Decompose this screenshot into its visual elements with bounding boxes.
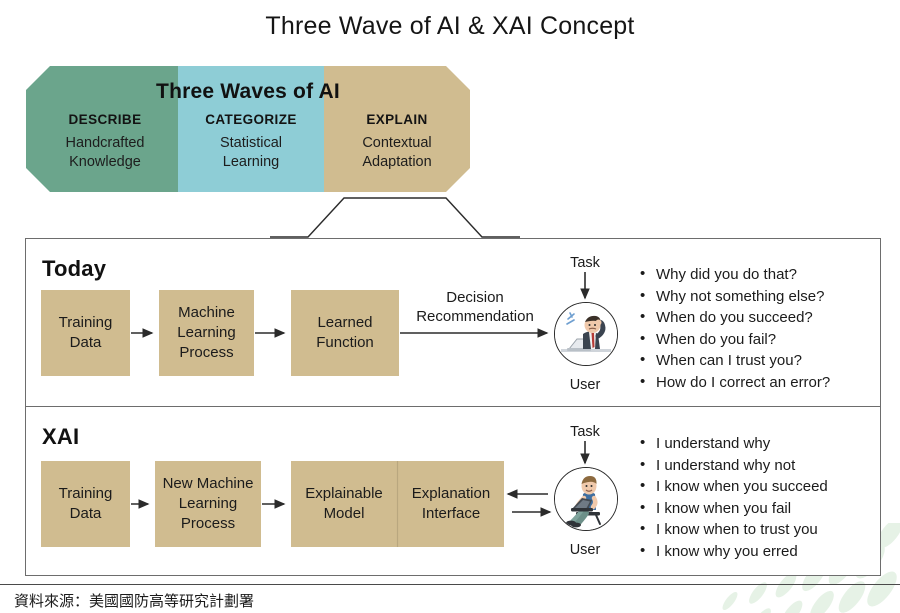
today-decision-label-line1: Decision	[405, 288, 545, 307]
wave-subtext-explain-line2: Adaptation	[324, 153, 470, 172]
today-box-ml-process: Machine Learning Process	[159, 290, 254, 376]
today-question-list: Why did you do that? Why not something e…	[640, 264, 830, 393]
list-item: Why not something else?	[640, 286, 830, 308]
list-item: When do you succeed?	[640, 307, 830, 329]
trapezoid-connector	[270, 196, 520, 238]
footer-divider	[0, 584, 900, 585]
panel-divider	[25, 406, 881, 407]
list-item: When do you fail?	[640, 329, 830, 351]
wave-column-explain: EXPLAIN Contextual Adaptation	[324, 112, 470, 172]
xai-box-training-data-line2: Data	[59, 504, 113, 524]
xai-box-explanation-interface: Explanation Interface	[398, 461, 504, 547]
three-waves-block: Three Waves of AI DESCRIBE Handcrafted K…	[26, 66, 470, 192]
xai-box-training-data-line1: Training	[59, 484, 113, 504]
today-box-training-data-line2: Data	[59, 333, 113, 353]
today-box-learned-function: Learned Function	[291, 290, 399, 376]
wave-caption-explain: EXPLAIN	[324, 112, 470, 127]
diagram-canvas: Three Wave of AI & XAI Concept Three Wav…	[0, 0, 900, 613]
wave-column-categorize: CATEGORIZE Statistical Learning	[178, 112, 324, 172]
row-label-today: Today	[42, 256, 106, 282]
today-task-label: Task	[540, 255, 630, 271]
wave-subtext-describe-line1: Handcrafted	[32, 134, 178, 153]
row-label-xai: XAI	[42, 424, 79, 450]
wave-caption-categorize: CATEGORIZE	[178, 112, 324, 127]
wave-subtext-explain-line1: Contextual	[324, 134, 470, 153]
xai-box-explainable-model: Explainable Model	[291, 461, 397, 547]
today-box-training-data: Training Data	[41, 290, 130, 376]
xai-box-new-ml-process-line1: New Machine	[163, 474, 254, 494]
today-box-learned-function-line1: Learned	[316, 313, 374, 333]
list-item: I understand why	[640, 433, 828, 455]
footer-source-text: 資料來源：美國國防高等研究計劃署	[14, 590, 254, 611]
list-item: I know why you erred	[640, 541, 828, 563]
list-item: I know when you succeed	[640, 476, 828, 498]
xai-user-label: User	[540, 542, 630, 558]
xai-task-label: Task	[540, 424, 630, 440]
wave-subtext-describe-line2: Knowledge	[32, 153, 178, 172]
xai-user-avatar	[554, 467, 618, 531]
list-item: When can I trust you?	[640, 350, 830, 372]
wave-column-describe: DESCRIBE Handcrafted Knowledge	[32, 112, 178, 172]
today-user-avatar	[554, 302, 618, 366]
page-title: Three Wave of AI & XAI Concept	[0, 12, 900, 41]
today-decision-recommendation-label: Decision Recommendation	[405, 288, 545, 326]
waves-heading: Three Waves of AI	[26, 80, 470, 104]
xai-box-explainable-model-line1: Explainable	[305, 484, 383, 504]
list-item: Why did you do that?	[640, 264, 830, 286]
list-item: I know when to trust you	[640, 519, 828, 541]
today-box-ml-process-line1: Machine	[177, 303, 235, 323]
today-decision-label-line2: Recommendation	[405, 307, 545, 326]
today-box-training-data-line1: Training	[59, 313, 113, 333]
list-item: I know when you fail	[640, 498, 828, 520]
xai-box-explanation-interface-line1: Explanation	[412, 484, 490, 504]
today-box-learned-function-line2: Function	[316, 333, 374, 353]
today-box-ml-process-line3: Process	[177, 343, 235, 363]
wave-subtext-categorize-line2: Learning	[178, 153, 324, 172]
xai-box-training-data: Training Data	[41, 461, 130, 547]
wave-subtext-categorize-line1: Statistical	[178, 134, 324, 153]
xai-box-explainable-model-line2: Model	[305, 504, 383, 524]
xai-box-new-ml-process-line3: Process	[163, 514, 254, 534]
xai-box-new-ml-process: New Machine Learning Process	[155, 461, 261, 547]
list-item: How do I correct an error?	[640, 372, 830, 394]
xai-statement-list: I understand why I understand why not I …	[640, 433, 828, 562]
xai-box-explanation-interface-line2: Interface	[412, 504, 490, 524]
wave-caption-describe: DESCRIBE	[32, 112, 178, 127]
xai-box-new-ml-process-line2: Learning	[163, 494, 254, 514]
today-user-label: User	[540, 377, 630, 393]
today-box-ml-process-line2: Learning	[177, 323, 235, 343]
list-item: I understand why not	[640, 455, 828, 477]
